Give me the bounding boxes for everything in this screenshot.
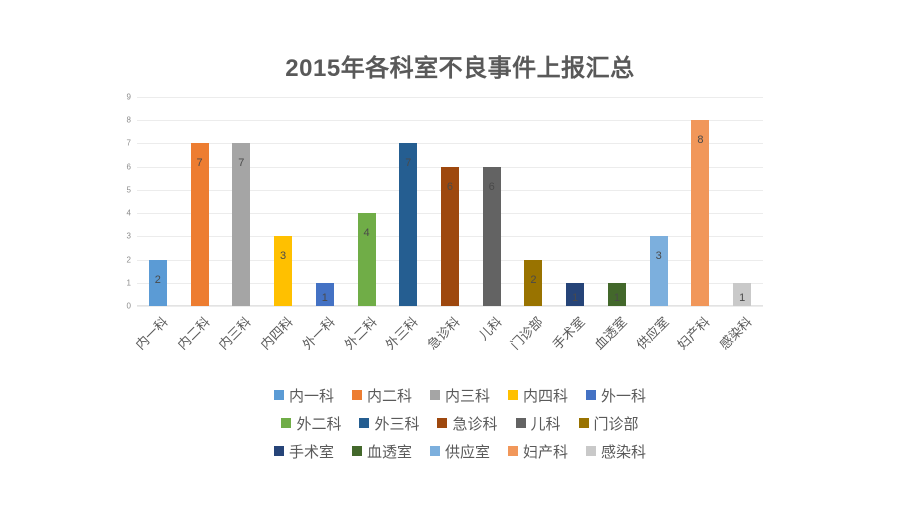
legend-label: 感染科 — [601, 441, 646, 462]
legend-swatch-icon — [274, 390, 284, 400]
bar-slot[interactable]: 1 — [596, 97, 638, 306]
legend-label: 外三科 — [374, 413, 419, 434]
legend-swatch-icon — [352, 446, 362, 456]
legend-item[interactable]: 血透室 — [352, 441, 412, 462]
y-axis-tick-label: 0 — [127, 302, 131, 311]
legend-swatch-icon — [281, 418, 291, 428]
legend-item[interactable]: 内三科 — [430, 385, 490, 406]
bar-slot[interactable]: 7 — [387, 97, 429, 306]
legend-row: 手术室血透室供应室妇产科感染科 — [0, 437, 920, 465]
legend-swatch-icon — [437, 418, 447, 428]
legend-item[interactable]: 急诊科 — [437, 413, 497, 434]
bar-value-label: 7 — [238, 157, 244, 169]
bar-slot[interactable]: 7 — [220, 97, 262, 306]
bar-value-label: 7 — [197, 157, 203, 169]
bar-value-label: 2 — [530, 274, 536, 286]
bar-slot[interactable]: 2 — [137, 97, 179, 306]
bar-value-label: 7 — [405, 157, 411, 169]
y-axis-tick-label: 2 — [127, 255, 131, 264]
y-axis-tick-label: 8 — [127, 116, 131, 125]
y-axis-tick-label: 6 — [127, 162, 131, 171]
bar-value-label: 8 — [697, 134, 703, 146]
legend-swatch-icon — [508, 390, 518, 400]
legend-item[interactable]: 供应室 — [430, 441, 490, 462]
legend-label: 外一科 — [601, 385, 646, 406]
bar-slot[interactable]: 6 — [429, 97, 471, 306]
legend-label: 急诊科 — [452, 413, 497, 434]
bar-slot[interactable]: 2 — [513, 97, 555, 306]
legend-swatch-icon — [586, 446, 596, 456]
bar-slot[interactable]: 1 — [554, 97, 596, 306]
legend-label: 手术室 — [289, 441, 334, 462]
legend-label: 血透室 — [367, 441, 412, 462]
legend-row: 内一科内二科内三科内四科外一科 — [0, 381, 920, 409]
bar-slot[interactable]: 1 — [721, 97, 763, 306]
legend-swatch-icon — [516, 418, 526, 428]
y-axis-tick-label: 7 — [127, 139, 131, 148]
legend-swatch-icon — [430, 390, 440, 400]
x-axis-category-labels: 内一科内二科内三科内四科外一科外二科外三科急诊科儿科门诊部手术室血透室供应室妇产… — [137, 308, 763, 378]
legend-item[interactable]: 手术室 — [274, 441, 334, 462]
legend-label: 外二科 — [296, 413, 341, 434]
bar-slot[interactable]: 1 — [304, 97, 346, 306]
bar-slot[interactable]: 3 — [638, 97, 680, 306]
legend-item[interactable]: 外一科 — [586, 385, 646, 406]
y-axis-tick-label: 9 — [127, 93, 131, 102]
bar-value-label: 6 — [447, 181, 453, 193]
bar-value-label: 1 — [572, 292, 578, 304]
legend-item[interactable]: 外二科 — [281, 413, 341, 434]
legend-item[interactable]: 儿科 — [516, 413, 561, 434]
bar-series: 277314766211381 — [137, 97, 763, 306]
legend-label: 门诊部 — [594, 413, 639, 434]
legend-swatch-icon — [430, 446, 440, 456]
plot-area: 0123456789 277314766211381 — [137, 97, 763, 306]
bar-value-label: 4 — [363, 227, 369, 239]
bar-value-label: 1 — [614, 292, 620, 304]
slide-canvas: 2015年各科室不良事件上报汇总 0123456789 277314766211… — [0, 0, 920, 518]
y-axis-tick-label: 3 — [127, 232, 131, 241]
y-axis-tick-label: 1 — [127, 278, 131, 287]
bar-slot[interactable]: 3 — [262, 97, 304, 306]
legend-label: 内三科 — [445, 385, 490, 406]
bar-value-label: 1 — [322, 292, 328, 304]
legend-swatch-icon — [352, 390, 362, 400]
legend-swatch-icon — [586, 390, 596, 400]
y-axis-tick-label: 5 — [127, 185, 131, 194]
legend-swatch-icon — [274, 446, 284, 456]
bar-slot[interactable]: 6 — [471, 97, 513, 306]
bar-value-label: 2 — [155, 274, 161, 286]
legend-swatch-icon — [579, 418, 589, 428]
legend-item[interactable]: 内二科 — [352, 385, 412, 406]
bar-value-label: 1 — [739, 292, 745, 304]
bar[interactable] — [274, 236, 292, 306]
bar[interactable] — [691, 120, 709, 306]
bar-value-label: 6 — [489, 181, 495, 193]
legend-label: 妇产科 — [523, 441, 568, 462]
legend-label: 儿科 — [531, 413, 561, 434]
bar-value-label: 3 — [280, 250, 286, 262]
legend-swatch-icon — [508, 446, 518, 456]
legend-item[interactable]: 外三科 — [359, 413, 419, 434]
legend-item[interactable]: 感染科 — [586, 441, 646, 462]
chart-legend: 内一科内二科内三科内四科外一科外二科外三科急诊科儿科门诊部手术室血透室供应室妇产… — [0, 381, 920, 465]
bar[interactable] — [650, 236, 668, 306]
legend-label: 内二科 — [367, 385, 412, 406]
legend-swatch-icon — [359, 418, 369, 428]
legend-item[interactable]: 内四科 — [508, 385, 568, 406]
legend-item[interactable]: 内一科 — [274, 385, 334, 406]
chart-title: 2015年各科室不良事件上报汇总 — [0, 48, 920, 83]
y-axis-tick-label: 4 — [127, 209, 131, 218]
bar-value-label: 3 — [656, 250, 662, 262]
legend-label: 内四科 — [523, 385, 568, 406]
legend-label: 供应室 — [445, 441, 490, 462]
legend-label: 内一科 — [289, 385, 334, 406]
bar-slot[interactable]: 8 — [680, 97, 722, 306]
gridline: 0 — [137, 306, 763, 307]
bar-slot[interactable]: 4 — [346, 97, 388, 306]
legend-item[interactable]: 门诊部 — [579, 413, 639, 434]
legend-item[interactable]: 妇产科 — [508, 441, 568, 462]
bar-slot[interactable]: 7 — [179, 97, 221, 306]
legend-row: 外二科外三科急诊科儿科门诊部 — [0, 409, 920, 437]
